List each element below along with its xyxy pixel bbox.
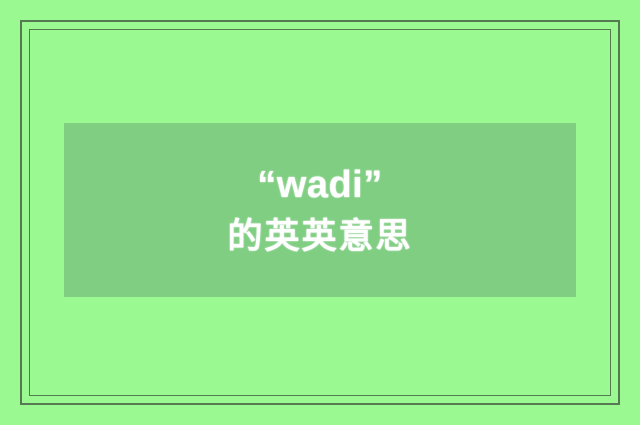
page-canvas: “wadi” 的英英意思: [0, 0, 640, 425]
card-title: “wadi”: [257, 164, 382, 207]
card-subtitle: 的英英意思: [227, 217, 412, 256]
title-card: “wadi” 的英英意思: [64, 123, 576, 297]
